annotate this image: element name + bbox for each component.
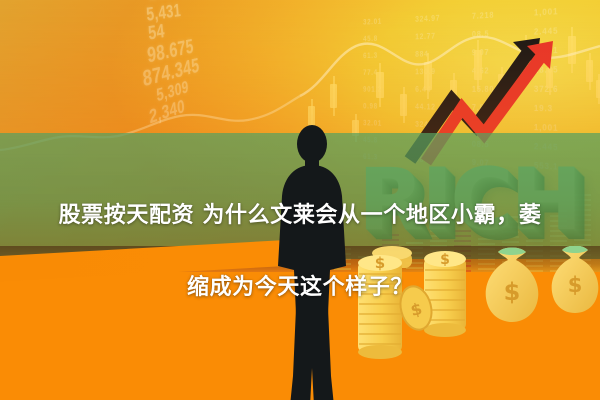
page-title: 股票按天配资 为什么文莱会从一个地区小霸，萎 缩成为今天这个样子？ <box>0 162 600 306</box>
page-title-line1: 股票按天配资 为什么文莱会从一个地区小霸，萎 <box>59 203 542 228</box>
banner-image: 23.453 5,431 54 98.675 874.345 5,309 2,3… <box>0 0 600 400</box>
page-title-line2: 缩成为今天这个样子？ <box>187 275 413 300</box>
